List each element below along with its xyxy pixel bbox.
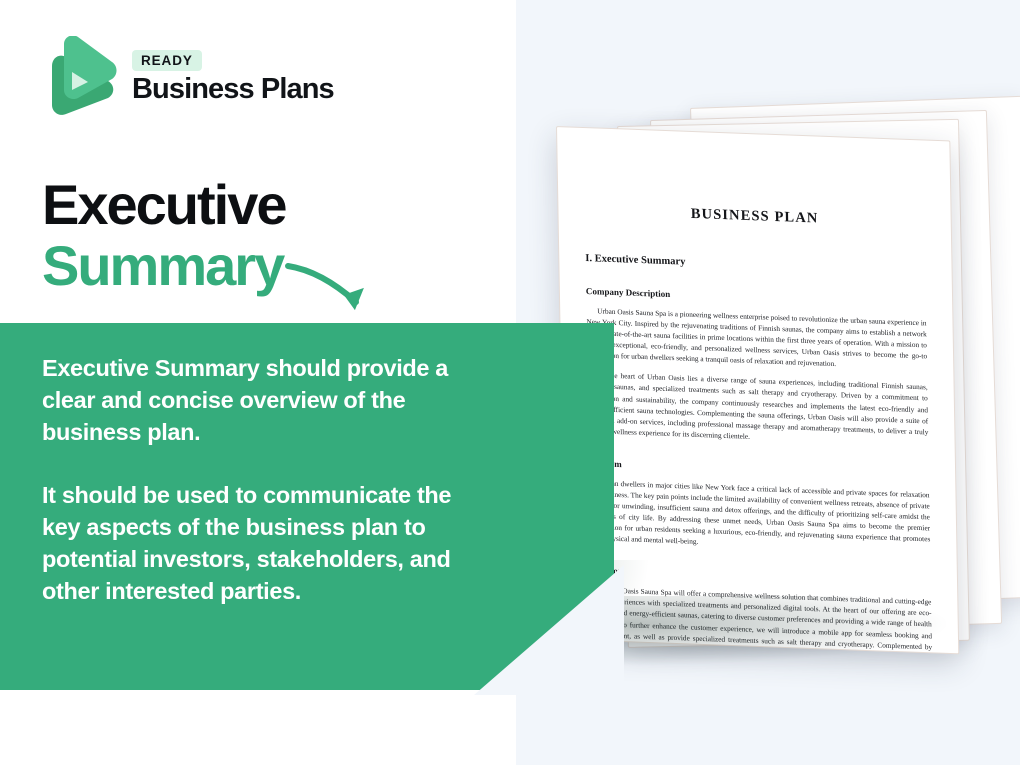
- brand-name: Business Plans: [132, 74, 334, 104]
- document-section-heading: I. Executive Summary: [585, 253, 925, 276]
- document-subheading-problem: Problem: [589, 458, 929, 480]
- brand-wordmark: READY Business Plans: [132, 48, 334, 105]
- slide-canvas: BUSINESS PLAN I. Executive Summary Compa…: [0, 0, 1020, 765]
- panel-paragraph-2: It should be used to communicate the key…: [42, 479, 487, 608]
- page-title: Executive Summary: [42, 178, 286, 294]
- curved-arrow-down-right-icon: [282, 258, 382, 325]
- document-title: BUSINESS PLAN: [584, 202, 925, 231]
- page-title-line-1: Executive: [42, 178, 286, 233]
- ready-badge: READY: [132, 50, 202, 72]
- brand-logo[interactable]: READY Business Plans: [42, 36, 334, 116]
- document-paragraph: Urban dwellers in major cities like New …: [589, 477, 930, 556]
- panel-copy: Executive Summary should provide a clear…: [42, 352, 487, 607]
- document-subheading-solution: Solution: [591, 565, 931, 587]
- play-triangle-logo-icon: [42, 36, 118, 116]
- panel-paragraph-1: Executive Summary should provide a clear…: [42, 352, 487, 449]
- document-paragraph: At the heart of Urban Oasis lies a diver…: [587, 369, 928, 448]
- page-title-line-2: Summary: [42, 239, 286, 294]
- document-paragraph: Urban Oasis Sauna Spa is a pioneering we…: [586, 305, 927, 373]
- document-subheading-company-description: Company Description: [586, 286, 926, 308]
